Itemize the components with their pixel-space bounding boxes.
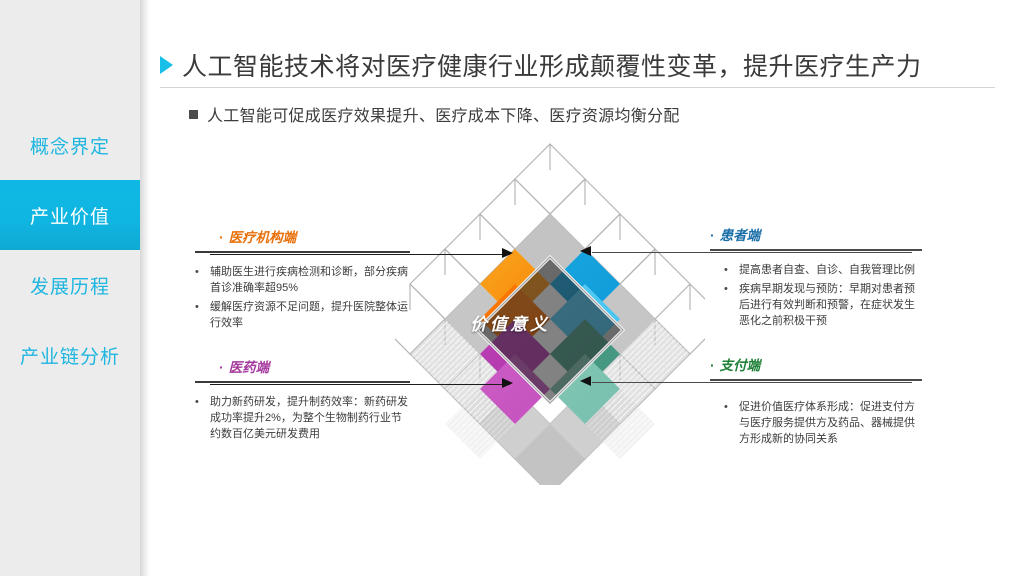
- heading-bullet-icon: ·: [219, 230, 224, 244]
- block-patient-heading: · 患者端: [710, 224, 922, 246]
- list-item-text: 疾病早期发现与预防：早期对患者预后进行有效判断和预警，在症状发生恶化之前积极干预: [739, 281, 922, 329]
- bullet-icon: •: [724, 399, 730, 447]
- subtitle-row: 人工智能可促成医疗效果提升、医疗成本下降、医疗资源均衡分配: [189, 102, 680, 126]
- isometric-cube-diagram: 价值意义: [395, 140, 705, 485]
- arrow-head-institution-icon: [502, 248, 513, 258]
- block-pharma-rule: [195, 381, 410, 383]
- square-bullet-icon: [189, 110, 198, 119]
- arrow-head-patient-icon: [580, 246, 591, 256]
- block-patient-bullets: • 提高患者自查、自诊、自我管理比例 • 疾病早期发现与预防：早期对患者预后进行…: [710, 262, 922, 329]
- triangle-marker-icon: [160, 56, 173, 74]
- sidebar-item-industry-value[interactable]: 产业价值: [0, 180, 140, 250]
- bullet-icon: •: [195, 264, 201, 296]
- heading-text: 患者端: [720, 224, 761, 246]
- bullet-icon: •: [724, 262, 730, 278]
- arrow-head-pharma-icon: [502, 378, 513, 388]
- sidebar-item-concept[interactable]: 概念界定: [0, 110, 140, 180]
- block-patient-rule: [710, 249, 922, 251]
- list-item: • 促进价值医疗体系形成：促进支付方与医疗服务提供方及药品、器械提供方形成新的协…: [724, 399, 922, 447]
- sidebar-nav: 概念界定 产业价值 发展历程 产业链分析: [0, 110, 140, 390]
- sidebar-item-label: 概念界定: [30, 132, 110, 159]
- title-divider: [160, 87, 995, 88]
- block-payer-rule: [710, 379, 922, 381]
- sidebar-item-label: 产业价值: [30, 202, 110, 229]
- block-institution-bullets: • 辅助医生进行疾病检测和诊断，部分疾病首诊准确率超95% • 缓解医疗资源不足…: [195, 264, 410, 331]
- list-item: • 缓解医疗资源不足问题，提升医院整体运行效率: [195, 299, 410, 331]
- block-payer: · 支付端 • 促进价值医疗体系形成：促进支付方与医疗服务提供方及药品、器械提供…: [710, 354, 922, 450]
- block-pharma: · 医药端 • 助力新药研发，提升制药效率：新药研发成功率提升2%，为整个生物制…: [195, 356, 410, 445]
- bullet-icon: •: [195, 299, 201, 331]
- block-payer-bullets: • 促进价值医疗体系形成：促进支付方与医疗服务提供方及药品、器械提供方形成新的协…: [710, 399, 922, 447]
- list-item-text: 缓解医疗资源不足问题，提升医院整体运行效率: [210, 299, 410, 331]
- block-patient: · 患者端 • 提高患者自查、自诊、自我管理比例 • 疾病早期发现与预防：早期对…: [710, 224, 922, 332]
- list-item-text: 助力新药研发，提升制药效率：新药研发成功率提升2%，为整个生物制药行业节约数百亿…: [210, 394, 410, 442]
- heading-text: 医药端: [229, 356, 270, 378]
- sidebar-item-history[interactable]: 发展历程: [0, 250, 140, 320]
- list-item-text: 促进价值医疗体系形成：促进支付方与医疗服务提供方及药品、器械提供方形成新的协同关…: [739, 399, 922, 447]
- bullet-icon: •: [195, 394, 201, 442]
- sidebar: 概念界定 产业价值 发展历程 产业链分析: [0, 0, 140, 576]
- block-institution-heading: · 医疗机构端: [195, 226, 410, 248]
- page-subtitle: 人工智能可促成医疗效果提升、医疗成本下降、医疗资源均衡分配: [207, 102, 680, 126]
- page-title: 人工智能技术将对医疗健康行业形成颠覆性变革，提升医疗生产力: [182, 47, 922, 83]
- block-payer-heading: · 支付端: [710, 354, 922, 376]
- list-item: • 提高患者自查、自诊、自我管理比例: [724, 262, 922, 278]
- list-item: • 辅助医生进行疾病检测和诊断，部分疾病首诊准确率超95%: [195, 264, 410, 296]
- slide: 概念界定 产业价值 发展历程 产业链分析 人工智能技术将对医疗健康行业形成颠覆性…: [0, 0, 1024, 576]
- sidebar-item-label: 产业链分析: [20, 342, 120, 369]
- block-institution-rule: [195, 251, 410, 253]
- block-pharma-heading: · 医药端: [195, 356, 410, 378]
- heading-bullet-icon: ·: [710, 228, 715, 242]
- header: 人工智能技术将对医疗健康行业形成颠覆性变革，提升医疗生产力 人工智能可促成医疗效…: [160, 47, 995, 83]
- sidebar-item-value-chain[interactable]: 产业链分析: [0, 320, 140, 390]
- list-item: • 疾病早期发现与预防：早期对患者预后进行有效判断和预警，在症状发生恶化之前积极…: [724, 281, 922, 329]
- title-row: 人工智能技术将对医疗健康行业形成颠覆性变革，提升医疗生产力: [160, 47, 995, 83]
- cube-svg: [395, 140, 705, 485]
- heading-bullet-icon: ·: [219, 360, 224, 374]
- arrow-head-payer-icon: [580, 376, 591, 386]
- sidebar-item-label: 发展历程: [30, 272, 110, 299]
- block-institution: · 医疗机构端 • 辅助医生进行疾病检测和诊断，部分疾病首诊准确率超95% • …: [195, 226, 410, 334]
- list-item: • 助力新药研发，提升制药效率：新药研发成功率提升2%，为整个生物制药行业节约数…: [195, 394, 410, 442]
- heading-text: 医疗机构端: [229, 226, 297, 248]
- diagram-stage: 价值意义 · 医疗机构端 • 辅助医生进行疾病检测和诊断，部分疾病首诊准确率超9…: [150, 130, 1024, 530]
- block-pharma-bullets: • 助力新药研发，提升制药效率：新药研发成功率提升2%，为整个生物制药行业节约数…: [195, 394, 410, 442]
- heading-bullet-icon: ·: [710, 358, 715, 372]
- list-item-text: 辅助医生进行疾病检测和诊断，部分疾病首诊准确率超95%: [210, 264, 410, 296]
- sidebar-divider: [140, 0, 150, 576]
- bullet-icon: •: [724, 281, 730, 329]
- heading-text: 支付端: [720, 354, 761, 376]
- list-item-text: 提高患者自查、自诊、自我管理比例: [739, 262, 915, 278]
